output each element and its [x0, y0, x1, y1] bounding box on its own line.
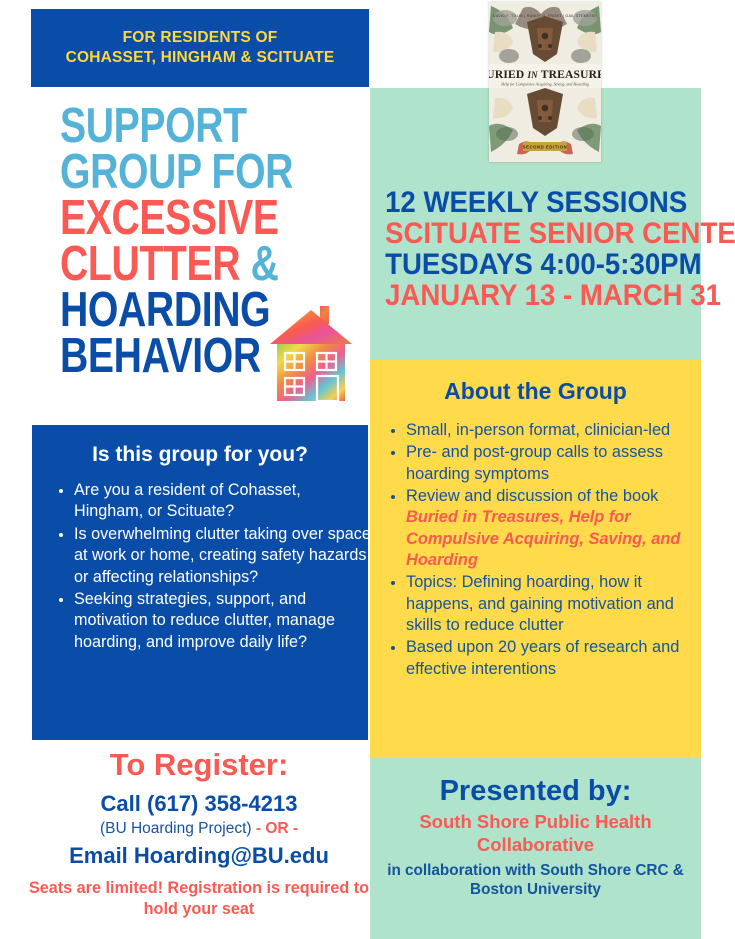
residents-banner: FOR RESIDENTS OF COHASSET, HINGHAM & SCI… [31, 9, 369, 87]
presented-by-collaboration: in collaboration with South Shore CRC & … [370, 861, 701, 899]
register-or: - OR - [256, 820, 298, 837]
list-item: Are you a resident of Cohasset, Hingham,… [74, 480, 372, 523]
list-item: Pre- and post-group calls to assess hoar… [406, 442, 706, 485]
book-edition: SECOND EDITION [523, 145, 567, 150]
session-time: TUESDAYS 4:00-5:30PM [385, 250, 686, 281]
presented-by-organization: South Shore Public Health Collaborative [370, 811, 701, 856]
headline-line-1: SUPPORT [60, 104, 260, 148]
eligibility-list: Are you a resident of Cohasset, Hingham,… [56, 480, 372, 654]
register-project-name: (BU Hoarding Project) [100, 820, 252, 837]
about-item-book-title: Buried in Treasures, Help for Compulsive… [406, 507, 706, 571]
watercolor-house-icon [268, 298, 354, 403]
register-phone-sub: (BU Hoarding Project) - OR - [24, 819, 374, 840]
session-weeks: 12 WEEKLY SESSIONS [385, 188, 686, 219]
flyer-page: FOR RESIDENTS OF COHASSET, HINGHAM & SCI… [0, 0, 735, 939]
presented-by-title: Presented by: [370, 775, 701, 807]
residents-banner-line1: FOR RESIDENTS OF [66, 28, 335, 48]
list-item: Is overwhelming clutter taking over spac… [74, 524, 372, 588]
register-title: To Register: [24, 748, 374, 782]
list-item: Small, in-person format, clinician-led [406, 420, 706, 441]
about-heading: About the Group [370, 378, 701, 405]
register-block: To Register: Call (617) 358-4213 (BU Hoa… [24, 748, 374, 920]
list-item: Topics: Defining hoarding, how it happen… [406, 572, 706, 636]
headline-line-4: CLUTTER & [60, 242, 260, 286]
book-title: BURIED IN TREASURES [489, 69, 601, 81]
residents-banner-text: FOR RESIDENTS OF COHASSET, HINGHAM & SCI… [66, 28, 335, 68]
register-email[interactable]: Email Hoarding@BU.edu [24, 842, 374, 871]
headline-line-5: HOARDING [60, 288, 260, 332]
book-cover-image: DAVID F. TOLIN | RANDY O. FROST | GAIL S… [489, 2, 601, 162]
book-authors: DAVID F. TOLIN | RANDY O. FROST | GAIL S… [493, 14, 597, 18]
session-location: SCITUATE SENIOR CENTER [385, 219, 686, 250]
about-list: Small, in-person format, clinician-led P… [388, 420, 706, 681]
about-item-text: Small, in-person format, clinician-led [406, 421, 670, 439]
book-cover-artwork: DAVID F. TOLIN | RANDY O. FROST | GAIL S… [489, 2, 601, 162]
eligibility-heading: Is this group for you? [32, 443, 368, 467]
headline-line-3: EXCESSIVE [60, 196, 260, 240]
headline-line-2: GROUP FOR [60, 150, 260, 194]
register-note: Seats are limited! Registration is requi… [24, 878, 374, 920]
register-phone[interactable]: Call (617) 358-4213 [24, 790, 374, 818]
about-item-text: Based upon 20 years of research and effe… [406, 638, 679, 677]
residents-banner-line2: COHASSET, HINGHAM & SCITUATE [66, 48, 335, 68]
list-item: Seeking strategies, support, and motivat… [74, 589, 372, 653]
about-item-text: Topics: Defining hoarding, how it happen… [406, 573, 674, 634]
session-dates: JANUARY 13 - MARCH 31 [385, 281, 686, 312]
about-item-text: Review and discussion of the book [406, 487, 658, 505]
about-item-text: Pre- and post-group calls to assess hoar… [406, 443, 663, 482]
headline-line-6: BEHAVIOR [60, 334, 260, 378]
presented-by-block: Presented by: South Shore Public Health … [370, 775, 701, 899]
session-info: 12 WEEKLY SESSIONS SCITUATE SENIOR CENTE… [372, 188, 699, 312]
list-item: Review and discussion of the bookBuried … [406, 486, 706, 571]
list-item: Based upon 20 years of research and effe… [406, 637, 706, 680]
